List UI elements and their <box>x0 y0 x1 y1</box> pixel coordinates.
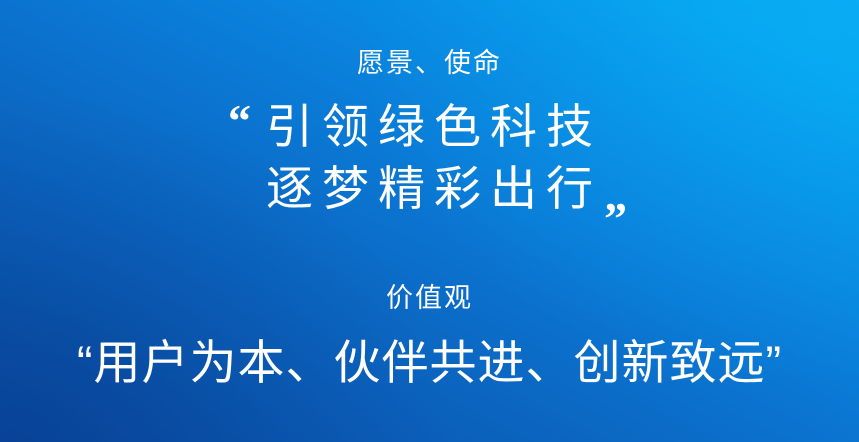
vision-mission-label: 愿景、使命 <box>0 50 859 77</box>
close-quote-mark-icon: ” <box>604 196 627 242</box>
open-quote-mark-icon: “ <box>228 98 251 144</box>
vision-quote-block: “ 引领绿色科技 逐梦精彩出行 ” <box>0 96 859 220</box>
vision-quote-line-2: 逐梦精彩出行 <box>0 158 859 220</box>
vision-mission-values-banner: 愿景、使命 “ 引领绿色科技 逐梦精彩出行 ” 价值观 “用户为本、伙伴共进、创… <box>0 0 859 442</box>
values-statement: “用户为本、伙伴共进、创新致远” <box>0 334 859 392</box>
vision-quote-line-1: 引领绿色科技 <box>0 96 859 158</box>
banner-content: 愿景、使命 “ 引领绿色科技 逐梦精彩出行 ” 价值观 “用户为本、伙伴共进、创… <box>0 0 859 442</box>
values-label: 价值观 <box>0 285 859 312</box>
